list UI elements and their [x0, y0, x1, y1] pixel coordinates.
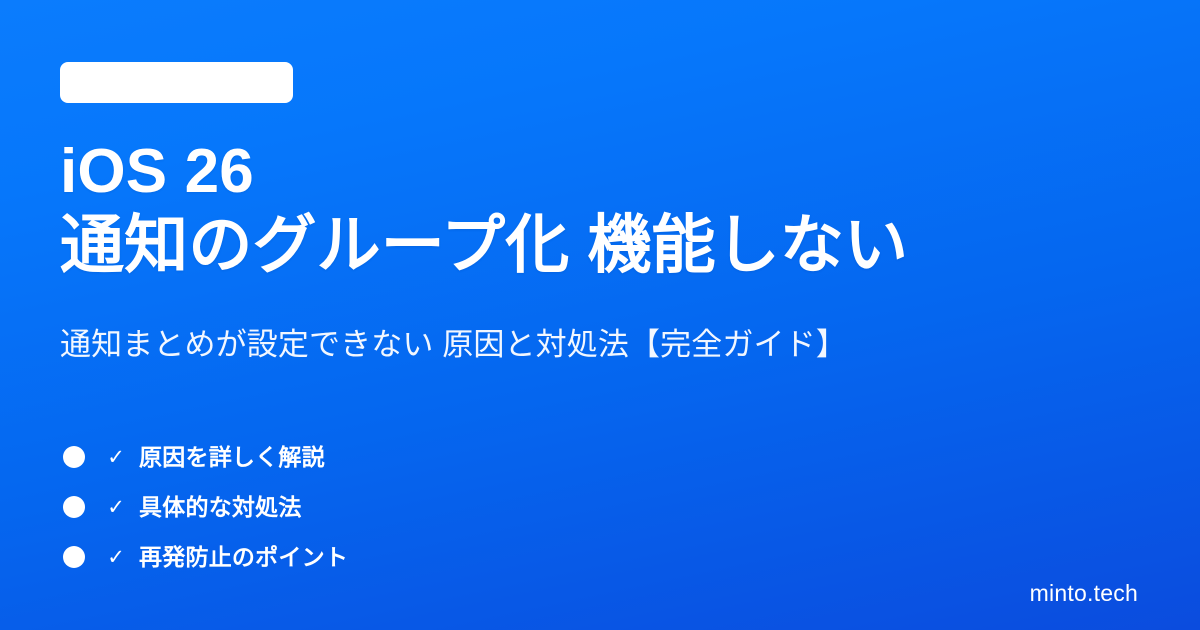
check-icon: ✓	[103, 497, 129, 518]
check-icon: ✓	[103, 547, 129, 568]
bullet-dot-icon	[63, 496, 85, 518]
card-footer: minto.tech	[60, 582, 1140, 609]
list-item: ✓ 原因を詳しく解説	[60, 432, 1140, 482]
page-title-line-2: 通知のグループ化 機能しない	[60, 208, 1140, 284]
site-brand: minto.tech	[1030, 582, 1140, 609]
page-subtitle: 通知まとめが設定できない 原因と対処法【完全ガイド】	[60, 325, 1140, 365]
ogp-card: iOS 26 通知のグループ化 機能しない 通知まとめが設定できない 原因と対処…	[0, 0, 1200, 630]
page-title-line-1: iOS 26	[60, 135, 1140, 208]
feature-list: ✓ 原因を詳しく解説 ✓ 具体的な対処法 ✓ 再発防止のポイント	[60, 432, 1140, 582]
list-item: ✓ 具体的な対処法	[60, 482, 1140, 532]
card-content: iOS 26 通知のグループ化 機能しない 通知まとめが設定できない 原因と対処…	[0, 0, 1200, 630]
list-item-label: 原因を詳しく解説	[139, 446, 325, 469]
bullet-dot-icon	[63, 446, 85, 468]
category-badge	[60, 62, 293, 103]
bullet-dot-icon	[63, 546, 85, 568]
list-item-label: 具体的な対処法	[139, 496, 302, 519]
list-item: ✓ 再発防止のポイント	[60, 532, 1140, 582]
check-icon: ✓	[103, 447, 129, 468]
page-title: iOS 26 通知のグループ化 機能しない	[60, 135, 1140, 284]
list-item-label: 再発防止のポイント	[139, 546, 348, 569]
